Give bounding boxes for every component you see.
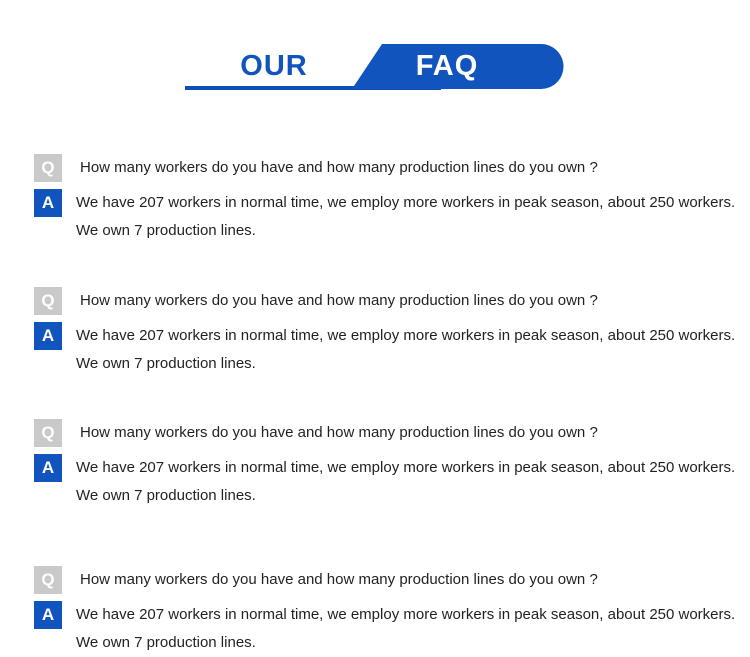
- page-header: OUR FAQ: [0, 0, 750, 110]
- faq-list: Q How many workers do you have and how m…: [0, 110, 750, 657]
- faq-answer-text: We have 207 workers in normal time, we e…: [76, 601, 750, 657]
- faq-question-text: How many workers do you have and how man…: [80, 566, 750, 594]
- question-badge-icon: Q: [34, 566, 62, 594]
- faq-answer-row: A We have 207 workers in normal time, we…: [34, 189, 750, 245]
- faq-answer-text: We have 207 workers in normal time, we e…: [76, 322, 750, 378]
- faq-answer-row: A We have 207 workers in normal time, we…: [34, 322, 750, 378]
- answer-badge-icon: A: [34, 189, 62, 217]
- answer-badge-icon: A: [34, 322, 62, 350]
- faq-answer-row: A We have 207 workers in normal time, we…: [34, 454, 750, 510]
- faq-answer-text: We have 207 workers in normal time, we e…: [76, 189, 750, 245]
- faq-answer-row: A We have 207 workers in normal time, we…: [34, 601, 750, 657]
- faq-question-text: How many workers do you have and how man…: [80, 154, 750, 182]
- faq-question-row: Q How many workers do you have and how m…: [34, 154, 750, 182]
- answer-badge-icon: A: [34, 601, 62, 629]
- faq-item: Q How many workers do you have and how m…: [0, 566, 750, 657]
- question-badge-icon: Q: [34, 154, 62, 182]
- faq-question-row: Q How many workers do you have and how m…: [34, 287, 750, 315]
- header-faq-banner-shape: [330, 44, 570, 89]
- faq-question-row: Q How many workers do you have and how m…: [34, 419, 750, 447]
- question-badge-icon: Q: [34, 419, 62, 447]
- faq-question-text: How many workers do you have and how man…: [80, 287, 750, 315]
- faq-item: Q How many workers do you have and how m…: [0, 154, 750, 245]
- faq-question-row: Q How many workers do you have and how m…: [34, 566, 750, 594]
- faq-answer-text: We have 207 workers in normal time, we e…: [76, 454, 750, 510]
- question-badge-icon: Q: [34, 287, 62, 315]
- faq-question-text: How many workers do you have and how man…: [80, 419, 750, 447]
- answer-badge-icon: A: [34, 454, 62, 482]
- faq-item: Q How many workers do you have and how m…: [0, 287, 750, 378]
- faq-item: Q How many workers do you have and how m…: [0, 419, 750, 510]
